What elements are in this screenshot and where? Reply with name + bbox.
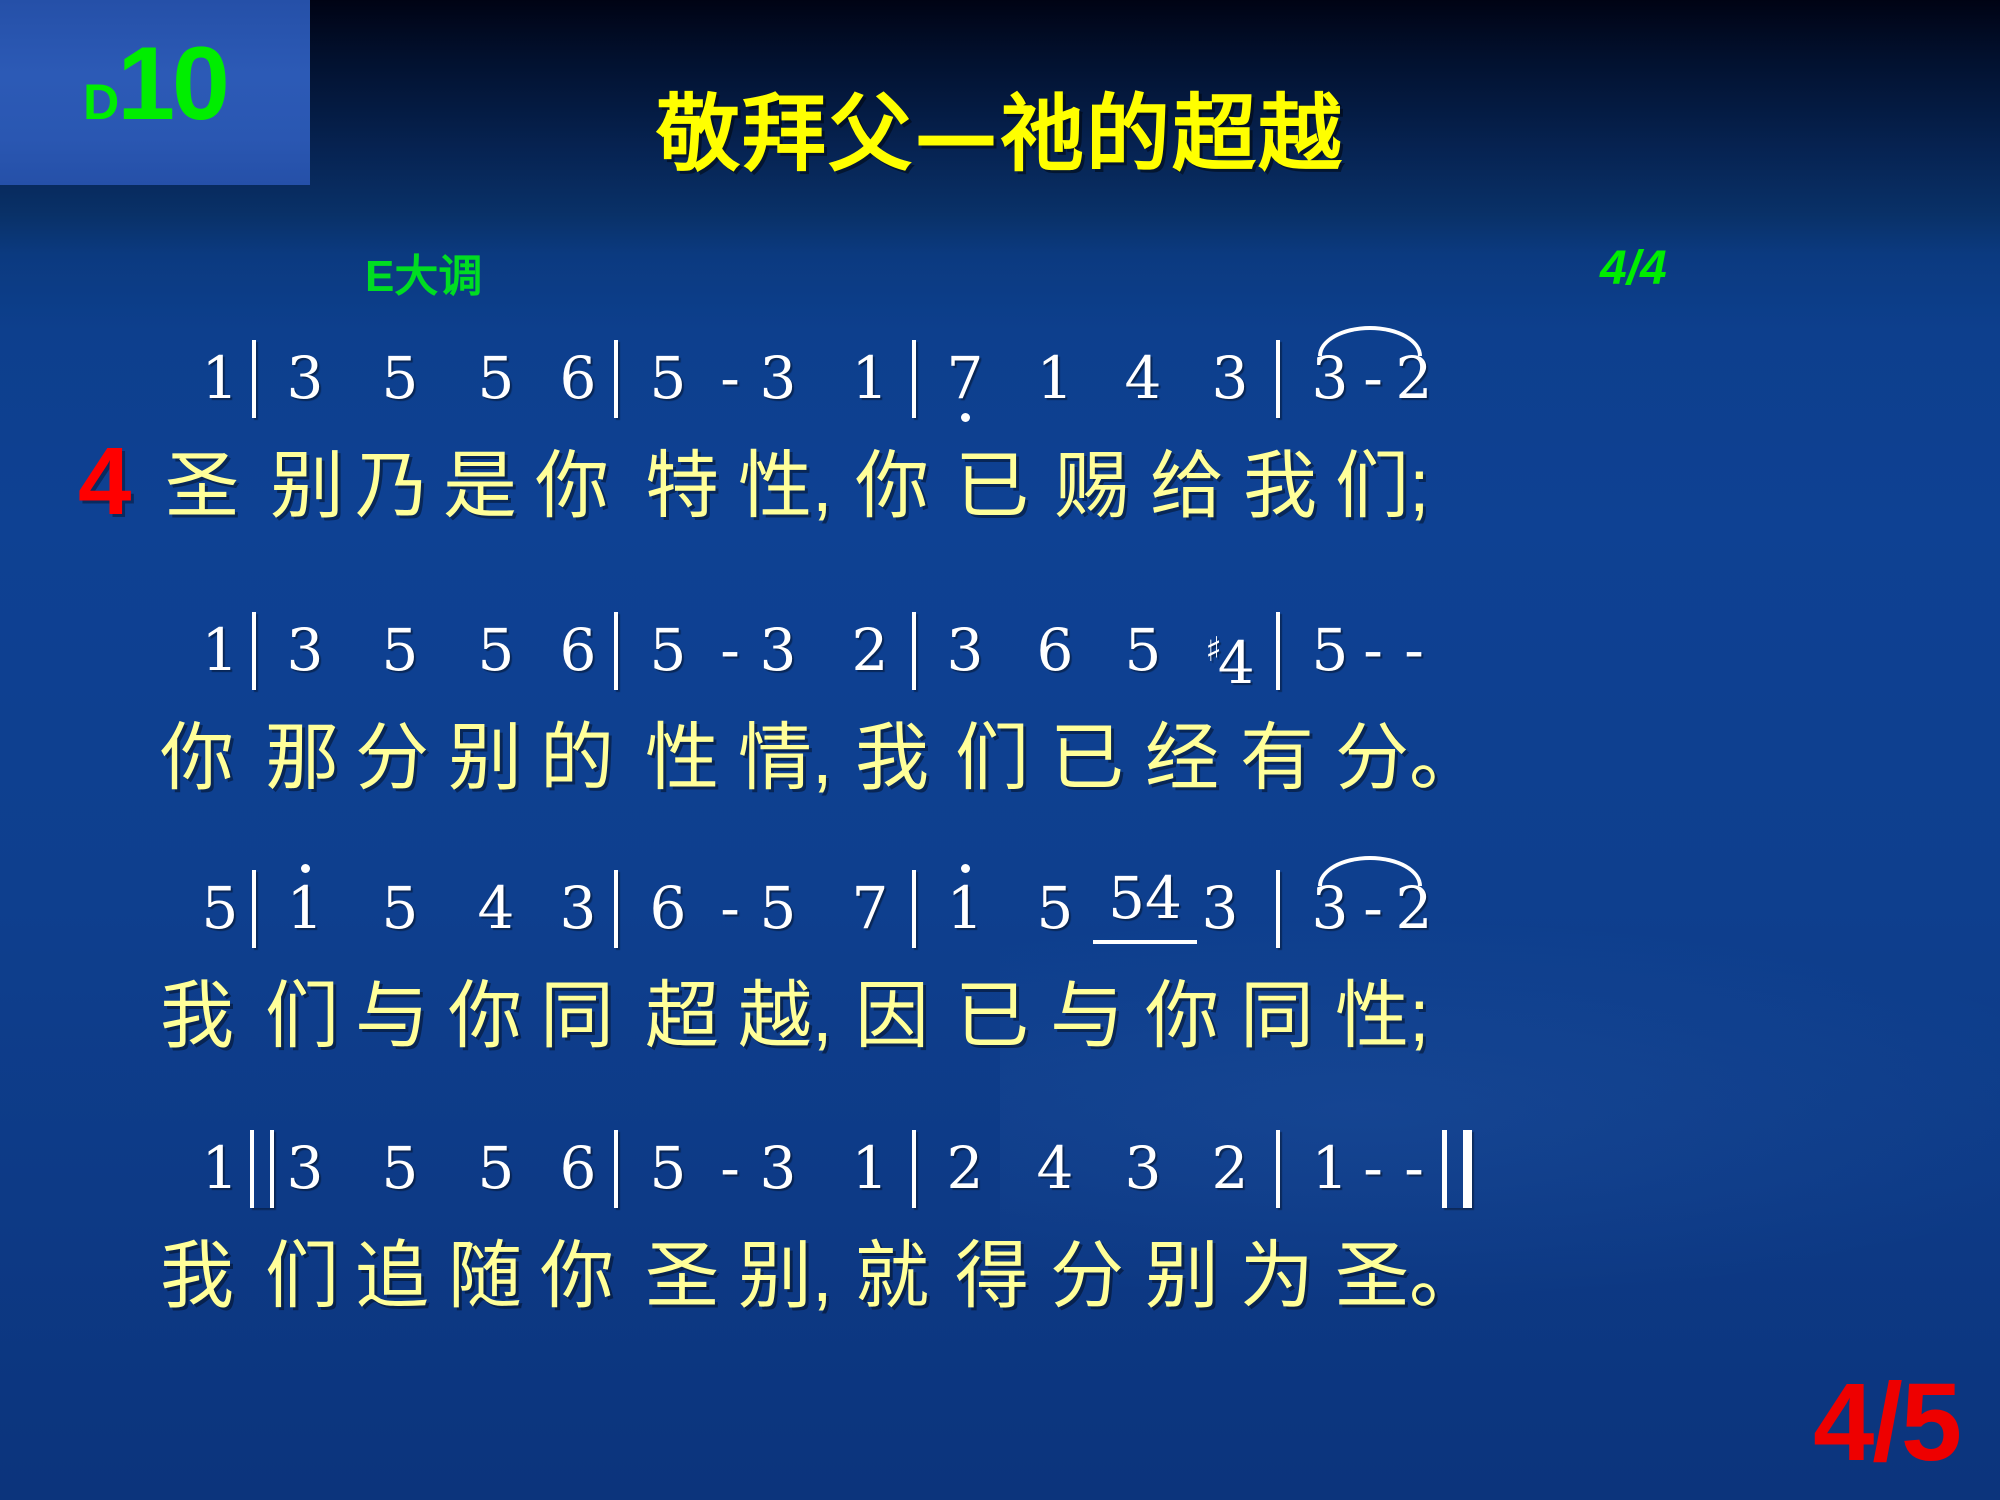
note-number: 5: [466, 602, 526, 698]
lyric-character: 特: [645, 426, 719, 546]
music-system: 515436-57155433-2我们与你同超越,因已与你同性;: [0, 860, 2000, 1076]
note-number: 3: [748, 602, 808, 698]
lyric-character: 得: [955, 1216, 1029, 1336]
note-number: 2: [1200, 1120, 1260, 1216]
lyric-character: 我: [855, 698, 929, 818]
music-systems: 135565-3171433-24圣别乃是你特性,你已赐给我们;135565-3…: [0, 0, 2000, 1500]
note-number: 6: [548, 330, 608, 426]
note-number: 5: [638, 330, 698, 426]
lyric-character: 们;: [1335, 426, 1430, 546]
note-number: 1: [190, 602, 250, 698]
note-number: 3: [548, 860, 608, 956]
lyric-character: 你: [448, 956, 522, 1076]
note-number: 1: [840, 330, 900, 426]
barline: [1276, 1130, 1280, 1208]
lyric-character: 我: [160, 956, 234, 1076]
barline: [614, 612, 618, 690]
lyric-character: 你: [160, 698, 234, 818]
note-number: 54: [1093, 860, 1197, 944]
note-number: 5: [190, 860, 250, 956]
note-number: 5: [638, 602, 698, 698]
note-number: 3: [748, 1120, 808, 1216]
slide-canvas: D 10 敬拜父—祂的超越 E大调 4/4 135565-3171433-24圣…: [0, 0, 2000, 1500]
note-number: 3: [935, 602, 995, 698]
barline: [1276, 870, 1280, 948]
lyric-character: 有: [1240, 698, 1314, 818]
note-number: 5: [466, 1120, 526, 1216]
lyric-character: 已: [1050, 698, 1124, 818]
lyric-character: 就: [855, 1216, 929, 1336]
lyric-character: 超: [645, 956, 719, 1076]
lyric-character: 分: [355, 698, 429, 818]
barline: [252, 612, 256, 690]
barline: [912, 870, 916, 948]
lyric-character: 的: [540, 698, 614, 818]
lyric-character: 越,: [738, 956, 833, 1076]
lyric-character: 追: [355, 1216, 429, 1336]
barline-double: [250, 1130, 274, 1208]
lyric-character: 因: [855, 956, 929, 1076]
lyric-character: 与: [1050, 956, 1124, 1076]
lyric-character: 赐: [1055, 426, 1129, 546]
lyric-character: 已: [955, 426, 1029, 546]
note-number: 1: [1025, 330, 1085, 426]
note-number: 4: [1025, 1120, 1085, 1216]
lyric-character: 圣。: [1335, 1216, 1483, 1336]
lyric-character: 情,: [738, 698, 833, 818]
note-number: 6: [1025, 602, 1085, 698]
note-number: 3: [748, 330, 808, 426]
lyric-character: 随: [448, 1216, 522, 1336]
lyric-character: 乃: [355, 426, 429, 546]
lyric-character: 分: [1050, 1216, 1124, 1336]
lyric-character: 圣: [645, 1216, 719, 1336]
barline: [614, 1130, 618, 1208]
note-number: 1: [840, 1120, 900, 1216]
note-number: 6: [548, 602, 608, 698]
music-system: 135565-32365♯45--你那分别的性情,我们已经有分。: [0, 602, 2000, 818]
note-number: 6: [638, 860, 698, 956]
note-number: 1: [935, 860, 995, 956]
note-number: 3: [275, 602, 335, 698]
lyric-row: 你那分别的性情,我们已经有分。: [0, 698, 2000, 818]
lyric-character: 是: [443, 426, 517, 546]
lyric-character: 性;: [1335, 956, 1430, 1076]
lyric-character: 同: [1240, 956, 1314, 1076]
note-sustain-dash: -: [1384, 602, 1444, 698]
note-number: 3: [275, 330, 335, 426]
lyric-character: 已: [955, 956, 1029, 1076]
lyric-character: 性: [645, 698, 719, 818]
lyric-character: 你: [535, 426, 609, 546]
note-number: 3: [1113, 1120, 1173, 1216]
note-number: 3: [275, 1120, 335, 1216]
note-number: 1: [190, 1120, 250, 1216]
note-number: 5: [748, 860, 808, 956]
note-number: 3: [1190, 860, 1250, 956]
sharp-accidental-icon: ♯: [1205, 630, 1221, 670]
lyric-character: 经: [1145, 698, 1219, 818]
music-system: 135565-3124321--我们追随你圣别,就得分别为圣。: [0, 1120, 2000, 1336]
music-system: 135565-3171433-24圣别乃是你特性,你已赐给我们;: [0, 330, 2000, 546]
note-number: 5: [1113, 602, 1173, 698]
barline-final: [1442, 1130, 1472, 1208]
notation-row: 135565-3171433-2: [0, 330, 2000, 426]
lyric-character: 给: [1150, 426, 1224, 546]
note-number: 5: [370, 1120, 430, 1216]
note-number: 1: [190, 330, 250, 426]
lyric-character: 们: [955, 698, 1029, 818]
note-number: 5: [638, 1120, 698, 1216]
lyric-character: 别: [448, 698, 522, 818]
barline: [1276, 340, 1280, 418]
note-number: 7: [840, 860, 900, 956]
note-number: 7: [935, 330, 995, 426]
barline: [252, 870, 256, 948]
note-number: 5: [466, 330, 526, 426]
lyric-character: 那: [265, 698, 339, 818]
lyric-row: 我们追随你圣别,就得分别为圣。: [0, 1216, 2000, 1336]
lyric-character: 你: [855, 426, 929, 546]
note-sustain-dash: -: [1384, 1120, 1444, 1216]
lyric-character: 与: [355, 956, 429, 1076]
beats-per-measure-marker: 4: [78, 422, 131, 542]
note-number: 5: [370, 330, 430, 426]
lyric-character: 我: [1243, 426, 1317, 546]
lyric-character: 别: [1145, 1216, 1219, 1336]
lyric-character: 我: [160, 1216, 234, 1336]
note-number: 5: [370, 602, 430, 698]
note-number: 4: [1113, 330, 1173, 426]
lyric-character: 分。: [1335, 698, 1483, 818]
lyric-character: 别,: [738, 1216, 833, 1336]
note-number: 5: [370, 860, 430, 956]
notation-row: 135565-32365♯45--: [0, 602, 2000, 698]
barline: [912, 340, 916, 418]
lyric-character: 同: [540, 956, 614, 1076]
note-number: 2: [840, 602, 900, 698]
barline: [614, 870, 618, 948]
barline: [614, 340, 618, 418]
note-number: 3: [1200, 330, 1260, 426]
lyric-character: 性,: [738, 426, 833, 546]
barline: [252, 340, 256, 418]
lyric-character: 为: [1240, 1216, 1314, 1336]
lyric-character: 圣: [165, 426, 239, 546]
page-number: 4/5: [1813, 1368, 1960, 1478]
note-number: ♯4: [1200, 602, 1260, 711]
lyric-character: 们: [265, 956, 339, 1076]
note-number: 2: [935, 1120, 995, 1216]
lyric-character: 们: [265, 1216, 339, 1336]
lyric-character: 别: [270, 426, 344, 546]
barline: [1276, 612, 1280, 690]
lyric-character: 你: [1145, 956, 1219, 1076]
notation-row: 135565-3124321--: [0, 1120, 2000, 1216]
note-number: 5: [1025, 860, 1085, 956]
notation-row: 515436-57155433-2: [0, 860, 2000, 956]
barline: [912, 612, 916, 690]
note-number: 1: [275, 860, 335, 956]
note-number: 4: [466, 860, 526, 956]
lyric-row: 我们与你同超越,因已与你同性;: [0, 956, 2000, 1076]
lyric-row: 4圣别乃是你特性,你已赐给我们;: [0, 426, 2000, 546]
barline: [912, 1130, 916, 1208]
lyric-character: 你: [540, 1216, 614, 1336]
note-number: 6: [548, 1120, 608, 1216]
